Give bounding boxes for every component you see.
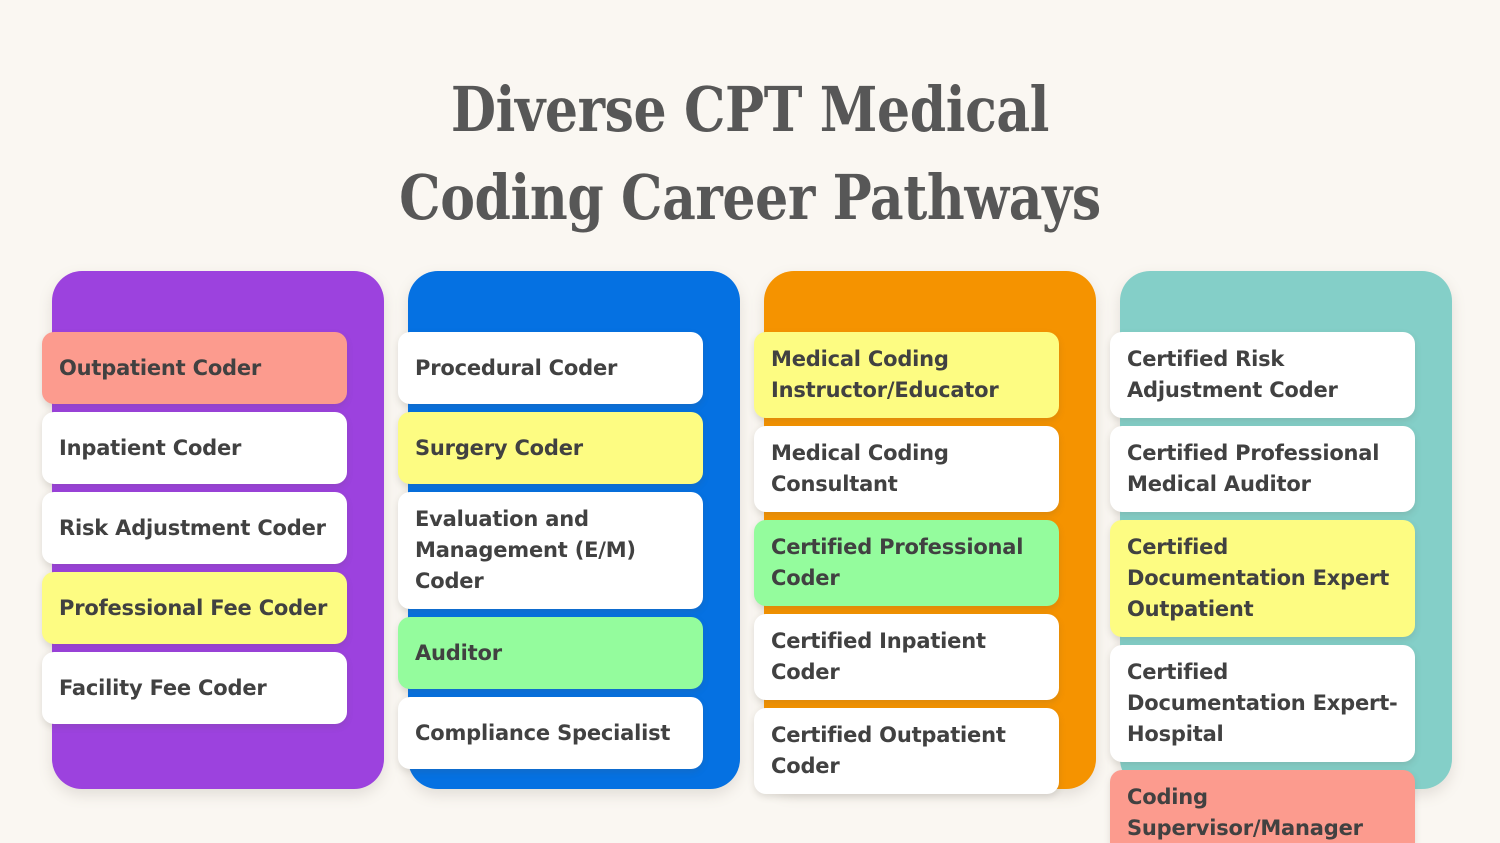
role-pill-label: Inpatient Coder — [59, 433, 241, 464]
role-pill-label: Certified Professional Medical Auditor — [1127, 438, 1399, 500]
role-pill[interactable]: Surgery Coder — [398, 412, 703, 484]
role-pill-label: Evaluation and Management (E/M) Coder — [415, 504, 687, 597]
page-title: Diverse CPT Medical Coding Career Pathwa… — [0, 66, 1500, 242]
purple-column: Outpatient CoderInpatient CoderRisk Adju… — [52, 271, 384, 789]
role-pill-label: Auditor — [415, 638, 502, 669]
role-pill[interactable]: Professional Fee Coder — [42, 572, 347, 644]
role-pill-label: Professional Fee Coder — [59, 593, 327, 624]
page-title-line-1: Diverse CPT Medical — [120, 66, 1380, 154]
blue-column: Procedural CoderSurgery CoderEvaluation … — [408, 271, 740, 789]
role-pill-label: Outpatient Coder — [59, 353, 261, 384]
role-pill-label: Certified Documentation Expert-Hospital — [1127, 657, 1399, 750]
role-pill-label: Certified Outpatient Coder — [771, 720, 1043, 782]
role-pill[interactable]: Medical Coding Instructor/Educator — [754, 332, 1059, 418]
role-pill-label: Facility Fee Coder — [59, 673, 267, 704]
role-pill-label: Certified Documentation Expert Outpatien… — [1127, 532, 1399, 625]
role-pill[interactable]: Evaluation and Management (E/M) Coder — [398, 492, 703, 609]
role-pill[interactable]: Certified Documentation Expert Outpatien… — [1110, 520, 1415, 637]
role-pill-label: Certified Professional Coder — [771, 532, 1043, 594]
role-pill-label: Compliance Specialist — [415, 718, 670, 749]
role-pill[interactable]: Coding Supervisor/Manager — [1110, 770, 1415, 843]
infographic-canvas: Diverse CPT Medical Coding Career Pathwa… — [0, 0, 1500, 843]
role-pill[interactable]: Outpatient Coder — [42, 332, 347, 404]
orange-column: Medical Coding Instructor/EducatorMedica… — [764, 271, 1096, 789]
role-pill[interactable]: Certified Documentation Expert-Hospital — [1110, 645, 1415, 762]
role-pill[interactable]: Certified Outpatient Coder — [754, 708, 1059, 794]
role-pill-label: Surgery Coder — [415, 433, 583, 464]
role-pill-label: Medical Coding Instructor/Educator — [771, 344, 1043, 406]
pill-stack: Procedural CoderSurgery CoderEvaluation … — [398, 332, 703, 769]
role-pill[interactable]: Certified Risk Adjustment Coder — [1110, 332, 1415, 418]
role-pill-label: Procedural Coder — [415, 353, 617, 384]
career-pathway-columns: Outpatient CoderInpatient CoderRisk Adju… — [52, 271, 1452, 789]
role-pill-label: Risk Adjustment Coder — [59, 513, 326, 544]
pill-stack: Certified Risk Adjustment CoderCertified… — [1110, 332, 1415, 843]
teal-column: Certified Risk Adjustment CoderCertified… — [1120, 271, 1452, 789]
role-pill[interactable]: Inpatient Coder — [42, 412, 347, 484]
role-pill-label: Coding Supervisor/Manager — [1127, 782, 1399, 843]
role-pill[interactable]: Risk Adjustment Coder — [42, 492, 347, 564]
role-pill[interactable]: Auditor — [398, 617, 703, 689]
role-pill[interactable]: Certified Inpatient Coder — [754, 614, 1059, 700]
role-pill-label: Certified Inpatient Coder — [771, 626, 1043, 688]
pill-stack: Medical Coding Instructor/EducatorMedica… — [754, 332, 1059, 794]
page-title-line-2: Coding Career Pathways — [120, 154, 1380, 242]
role-pill[interactable]: Compliance Specialist — [398, 697, 703, 769]
role-pill-label: Medical Coding Consultant — [771, 438, 1043, 500]
pill-stack: Outpatient CoderInpatient CoderRisk Adju… — [42, 332, 347, 724]
role-pill-label: Certified Risk Adjustment Coder — [1127, 344, 1399, 406]
role-pill[interactable]: Facility Fee Coder — [42, 652, 347, 724]
role-pill[interactable]: Procedural Coder — [398, 332, 703, 404]
role-pill[interactable]: Certified Professional Medical Auditor — [1110, 426, 1415, 512]
role-pill[interactable]: Medical Coding Consultant — [754, 426, 1059, 512]
role-pill[interactable]: Certified Professional Coder — [754, 520, 1059, 606]
